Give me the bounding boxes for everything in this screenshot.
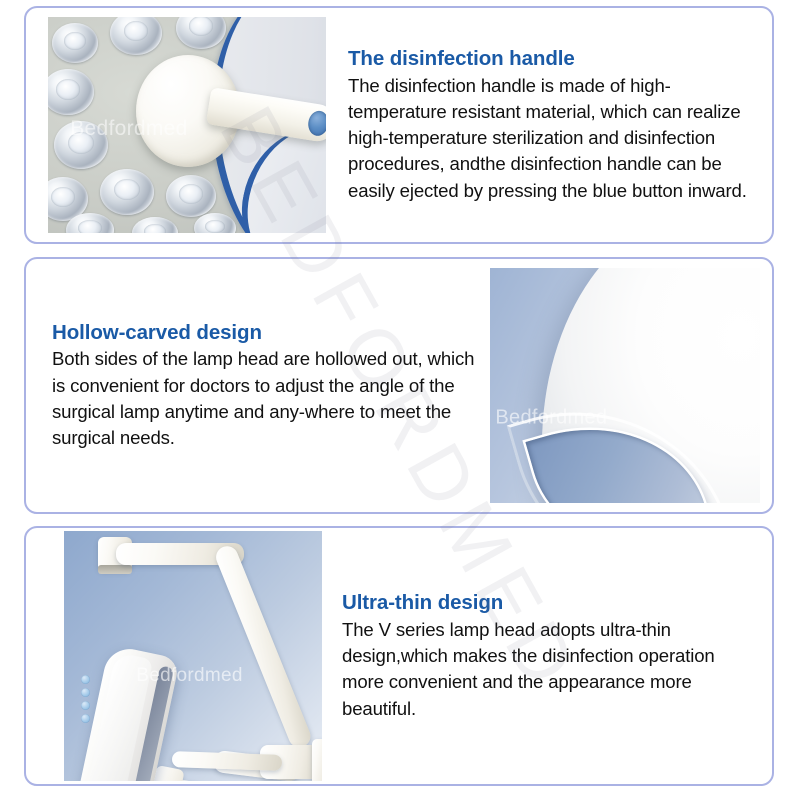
feature-panel-hollow-carved-design: Bedfordmed Hollow-carved design Both sid… — [24, 257, 774, 514]
feature-image-disinfection-handle: Bedfordmed — [48, 17, 326, 233]
feature-title: The disinfection handle — [348, 46, 758, 72]
feature-text-ultra-thin-design: Ultra-thin design The V series lamp head… — [322, 590, 772, 722]
hollow-carved-lamp-photo: Bedfordmed — [490, 268, 760, 503]
feature-text-hollow-carved-design: Hollow-carved design Both sides of the l… — [26, 320, 490, 452]
control-button — [81, 675, 90, 684]
lamp-control-buttons — [81, 675, 90, 723]
feature-image-hollow-carved-design: Bedfordmed — [490, 268, 760, 503]
lamp-head-led-photo: Bedfordmed — [48, 17, 326, 233]
infographic-stage: Bedfordmed The disinfection handle The d… — [0, 0, 800, 800]
blue-release-button — [307, 109, 326, 137]
feature-title: Ultra-thin design — [342, 590, 758, 616]
surgical-lamp-profile-photo: Bedfordmed — [64, 531, 322, 781]
feature-text-disinfection-handle: The disinfection handle The disinfection… — [326, 46, 772, 204]
control-button — [81, 714, 90, 723]
feature-body: The V series lamp head adopts ultra-thin… — [342, 617, 758, 722]
ceiling-mount-ring — [98, 565, 132, 574]
led-module — [54, 121, 108, 169]
feature-image-ultra-thin-design: Bedfordmed — [64, 531, 322, 781]
joint-end-cap — [312, 739, 322, 781]
feature-body: The disinfection handle is made of high-… — [348, 73, 758, 204]
led-module — [100, 169, 154, 215]
led-module — [52, 23, 98, 63]
control-button — [81, 688, 90, 697]
feature-body: Both sides of the lamp head are hollowed… — [52, 346, 480, 451]
feature-panel-disinfection-handle: Bedfordmed The disinfection handle The d… — [24, 6, 774, 244]
control-button — [81, 701, 90, 710]
led-module — [166, 175, 216, 217]
feature-panel-ultra-thin-design: Bedfordmed Ultra-thin design The V serie… — [24, 526, 774, 786]
feature-title: Hollow-carved design — [52, 320, 480, 346]
